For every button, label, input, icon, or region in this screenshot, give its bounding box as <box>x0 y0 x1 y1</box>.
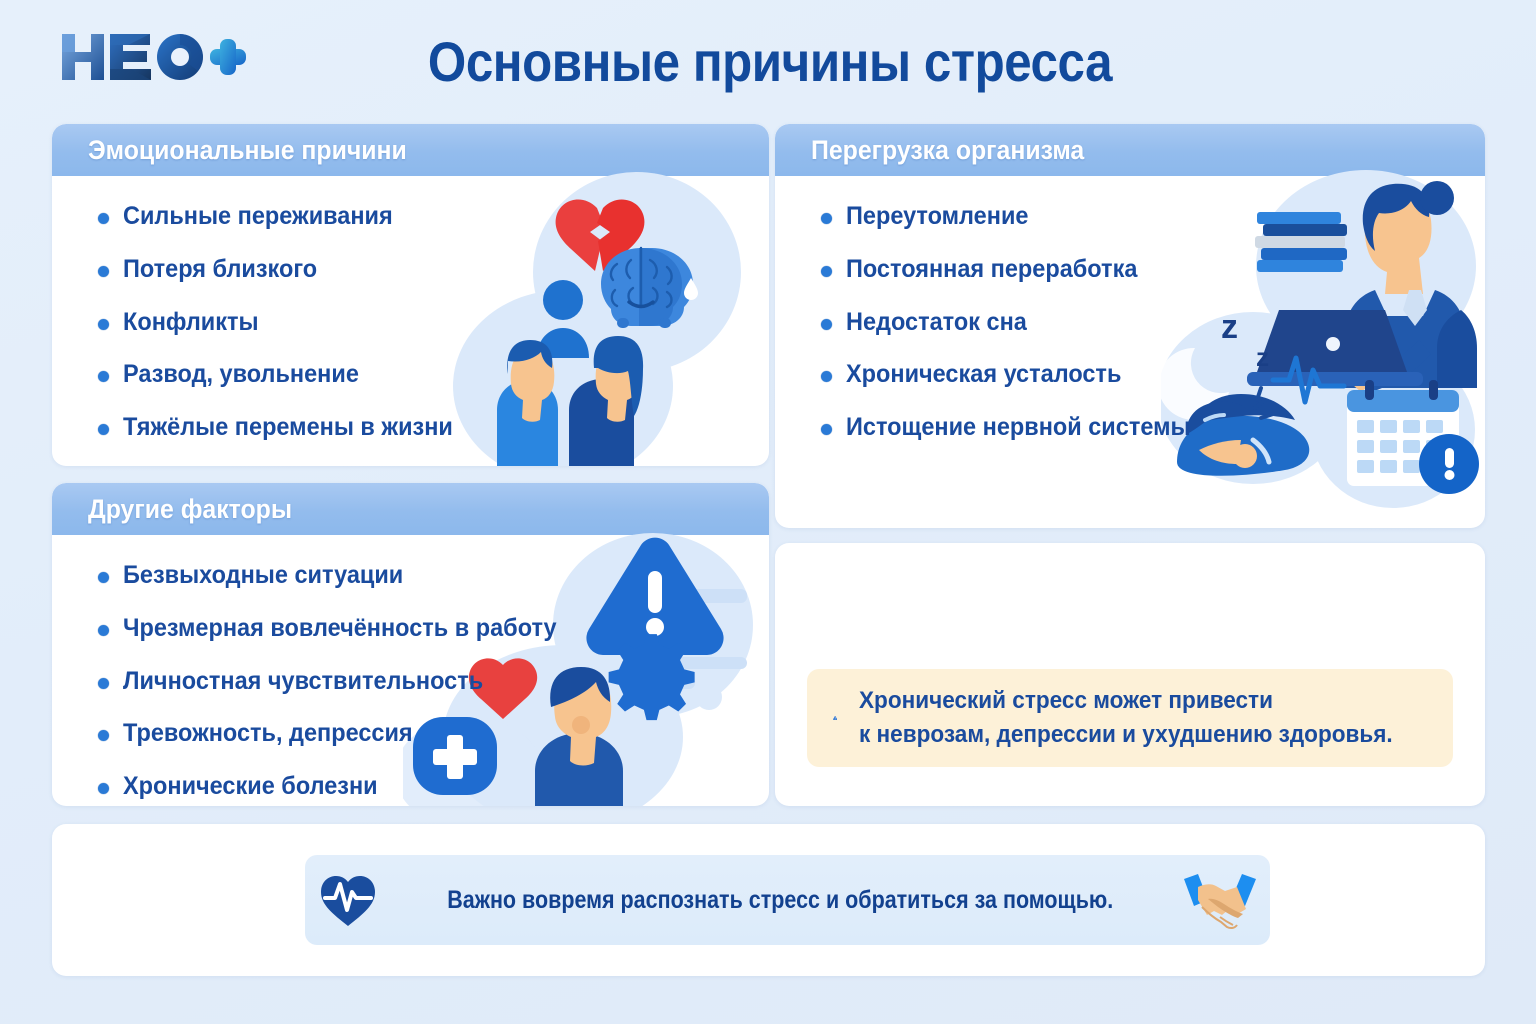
bullet-dot-icon <box>821 424 832 435</box>
warning-triangle-icon <box>833 684 837 752</box>
card-overload-body: z z <box>775 176 1485 442</box>
list-item: Конфликты <box>52 308 769 337</box>
list-item-label: Истощение нервной системы <box>846 413 1191 442</box>
bullet-dot-icon <box>98 371 109 382</box>
card-footer: Важно вовремя распознать стресс и обрати… <box>52 824 1485 976</box>
card-other-title: Другие факторы <box>88 494 292 525</box>
bullet-dot-icon <box>98 213 109 224</box>
card-other-header: Другие факторы <box>52 483 769 535</box>
list-item-label: Потеря близкого <box>123 255 317 284</box>
bullet-dot-icon <box>821 319 832 330</box>
footer-text: Важно вовремя распознать стресс и обрати… <box>447 886 1113 915</box>
list-item: Переутомление <box>775 202 1485 231</box>
bullet-dot-icon <box>98 266 109 277</box>
card-other-body: Безвыходные ситуации Чрезмерная вовлечён… <box>52 535 769 801</box>
card-emotional-list: Сильные переживания Потеря близкого Конф… <box>52 202 769 442</box>
card-warning: Хронический стресс может привести к невр… <box>775 543 1485 806</box>
list-item-label: Чрезмерная вовлечённость в работу <box>123 614 557 643</box>
bullet-dot-icon <box>98 319 109 330</box>
warning-text: Хронический стресс может привести к невр… <box>859 688 1427 748</box>
list-item: Потеря близкого <box>52 255 769 284</box>
list-item-label: Тяжёлые перемены в жизни <box>123 413 453 442</box>
list-item-label: Безвыходные ситуации <box>123 561 403 590</box>
list-item: Тяжёлые перемены в жизни <box>52 413 769 442</box>
card-other-factors: Другие факторы <box>52 483 769 806</box>
bullet-dot-icon <box>821 213 832 224</box>
brand-logo <box>58 24 248 90</box>
list-item-label: Тревожность, депрессия <box>123 719 413 748</box>
list-item-label: Хроническая усталость <box>846 360 1121 389</box>
list-item-label: Конфликты <box>123 308 259 337</box>
card-emotional-body: Сильные переживания Потеря близкого Конф… <box>52 176 769 442</box>
card-overload-title: Перегрузка организма <box>811 135 1084 166</box>
list-item: Личностная чувствительность <box>52 667 769 696</box>
warning-callout: Хронический стресс может привести к невр… <box>807 669 1453 767</box>
bullet-dot-icon <box>98 625 109 636</box>
list-item-label: Сильные переживания <box>123 202 393 231</box>
list-item: Сильные переживания <box>52 202 769 231</box>
list-item-label: Развод, увольнение <box>123 360 359 389</box>
bullet-dot-icon <box>98 572 109 583</box>
card-emotional-title: Эмоциональные причини <box>88 135 407 166</box>
warning-line-2: к неврозам, депрессии и ухудшению здоров… <box>859 722 1393 748</box>
list-item: Хроническая усталость <box>775 360 1485 389</box>
bullet-dot-icon <box>98 730 109 741</box>
bullet-dot-icon <box>821 371 832 382</box>
list-item: Постоянная переработка <box>775 255 1485 284</box>
card-overload-list: Переутомление Постоянная переработка Нед… <box>775 202 1485 442</box>
list-item: Чрезмерная вовлечённость в работу <box>52 614 769 643</box>
list-item-label: Хронические болезни <box>123 772 378 801</box>
list-item-label: Личностная чувствительность <box>123 667 483 696</box>
heart-pulse-icon <box>317 869 379 931</box>
list-item: Тревожность, депрессия <box>52 719 769 748</box>
infographic-canvas: Основные причины стресса Эмоциональные п… <box>0 0 1536 1024</box>
list-item: Истощение нервной системы <box>775 413 1485 442</box>
bullet-dot-icon <box>98 424 109 435</box>
list-item: Безвыходные ситуации <box>52 561 769 590</box>
footer-banner: Важно вовремя распознать стресс и обрати… <box>305 855 1270 945</box>
warning-line-1: Хронический стресс может привести <box>859 688 1393 714</box>
list-item-label: Недостаток сна <box>846 308 1027 337</box>
card-overload-header: Перегрузка организма <box>775 124 1485 176</box>
alert-badge-icon <box>1419 434 1479 494</box>
list-item: Недостаток сна <box>775 308 1485 337</box>
card-other-list: Безвыходные ситуации Чрезмерная вовлечён… <box>52 561 769 801</box>
handshake-icon <box>1182 867 1258 933</box>
card-emotional-header: Эмоциональные причини <box>52 124 769 176</box>
card-emotional-causes: Эмоциональные причини <box>52 124 769 466</box>
page-title: Основные причины стресса <box>383 26 1157 98</box>
bullet-dot-icon <box>821 266 832 277</box>
bullet-dot-icon <box>98 783 109 794</box>
card-body-overload: Перегрузка организма <box>775 124 1485 528</box>
list-item: Хронические болезни <box>52 772 769 801</box>
list-item: Развод, увольнение <box>52 360 769 389</box>
bullet-dot-icon <box>98 678 109 689</box>
list-item-label: Постоянная переработка <box>846 255 1137 284</box>
list-item-label: Переутомление <box>846 202 1028 231</box>
